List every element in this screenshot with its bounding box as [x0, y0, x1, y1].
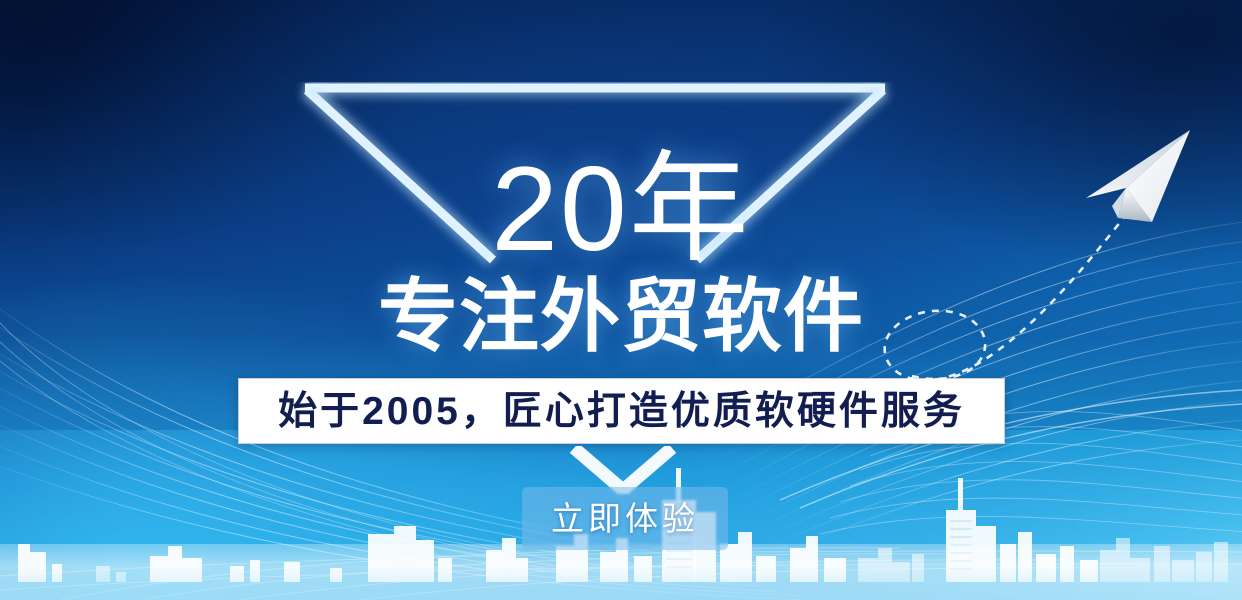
- cta-label: 立即体验: [551, 502, 699, 535]
- dashed-loop-trail: [840, 210, 1140, 410]
- ground-haze: [0, 544, 1242, 600]
- promo-banner: '); mask-image:url('data:image/svg+xml;u…: [0, 0, 1242, 600]
- paper-plane-icon: [1082, 126, 1208, 236]
- cta-button[interactable]: 立即体验: [522, 487, 728, 550]
